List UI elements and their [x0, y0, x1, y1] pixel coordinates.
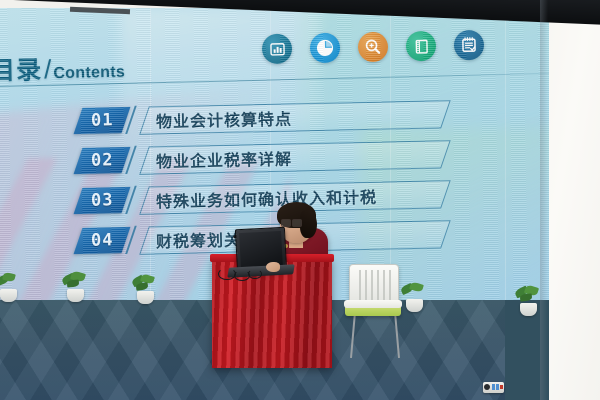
floor-device: [483, 382, 504, 393]
slide-title: 目录 / Contents: [0, 49, 125, 88]
list-item-label: 物业企业税率详解: [156, 146, 292, 173]
slide-title-en: Contents: [53, 64, 125, 83]
potted-plant: [63, 272, 87, 302]
list-item-label: 物业会计核算特点: [156, 106, 292, 133]
potted-plant: [0, 272, 20, 302]
list-item: 02 物业企业税率详解: [78, 148, 79, 175]
slide-title-cn: 目录: [0, 50, 42, 87]
list-item-number: 04: [91, 230, 114, 250]
potted-plant: [133, 274, 157, 304]
list-item: 03 特殊业务如何确认收入和计税: [78, 188, 79, 215]
wall-edge-shadow: [540, 0, 548, 400]
slide-title-separator: /: [44, 54, 52, 85]
list-item: 01 物业会计核算特点: [78, 108, 79, 135]
cable-loop: [248, 269, 262, 279]
checklist-document-icon: [454, 30, 485, 61]
potted-plant: [402, 282, 426, 312]
list-item-number: 02: [91, 150, 114, 170]
list-item-number-badge: 04: [74, 227, 131, 254]
speaker-hand-on-laptop: [266, 262, 280, 272]
slide-icon-row: [262, 30, 485, 64]
list-item-number-badge: 03: [74, 187, 131, 214]
list-item-number-badge: 01: [74, 107, 131, 134]
speaker-hair-side: [300, 210, 317, 238]
chair-seat-frame: [344, 300, 402, 308]
list-item-number: 03: [91, 190, 114, 210]
list-item-label: 特殊业务如何确认收入和计税: [156, 184, 377, 213]
notebook-icon: [406, 31, 437, 62]
pie-chart-icon: [310, 33, 341, 64]
potted-plant: [516, 286, 540, 316]
back-wall: [540, 0, 600, 400]
zoom-in-magnifier-icon: [358, 32, 389, 63]
list-item: 04 财税筹划关键: [78, 228, 79, 255]
bar-chart-icon: [262, 34, 293, 65]
list-item-number-badge: 02: [74, 147, 131, 174]
list-item-number: 01: [91, 110, 114, 130]
speaker-glasses: [281, 219, 301, 225]
presentation-photo: 目录 / Contents: [0, 0, 600, 400]
